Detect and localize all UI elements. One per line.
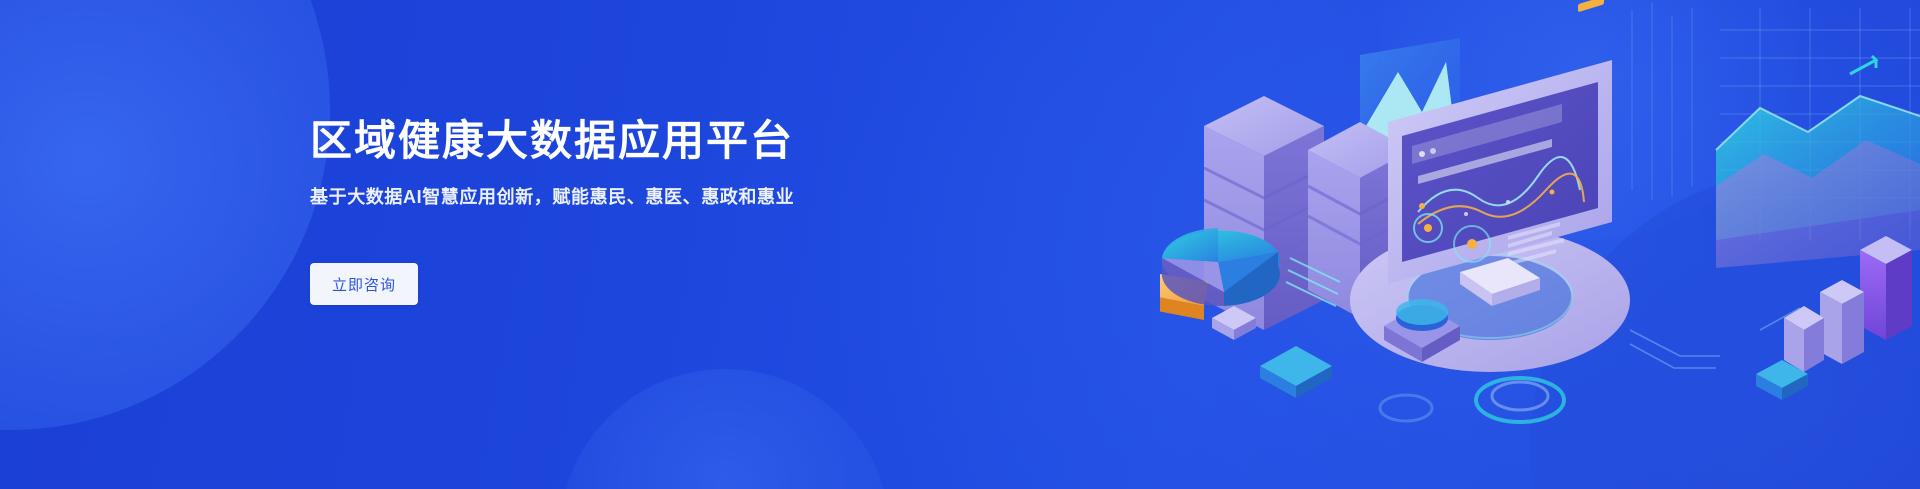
legend-bars bbox=[1578, 0, 1622, 12]
isometric-analytics-svg bbox=[1160, 0, 1920, 489]
bottom-connector-lines bbox=[1630, 308, 1800, 368]
hero-copy-block: 区域健康大数据应用平台 基于大数据AI智慧应用创新，赋能惠民、惠医、惠政和惠业 … bbox=[310, 0, 1070, 489]
hero-illustration bbox=[1160, 0, 1920, 489]
hero-banner: 区域健康大数据应用平台 基于大数据AI智慧应用创新，赋能惠民、惠医、惠政和惠业 … bbox=[0, 0, 1920, 489]
consult-now-button[interactable]: 立即咨询 bbox=[310, 263, 418, 305]
decor-blob-top-left bbox=[0, 0, 330, 430]
area-wave-chart bbox=[1716, 56, 1920, 268]
page-subtitle: 基于大数据AI智慧应用创新，赋能惠民、惠医、惠政和惠业 bbox=[310, 183, 794, 209]
page-title: 区域健康大数据应用平台 bbox=[310, 118, 794, 164]
